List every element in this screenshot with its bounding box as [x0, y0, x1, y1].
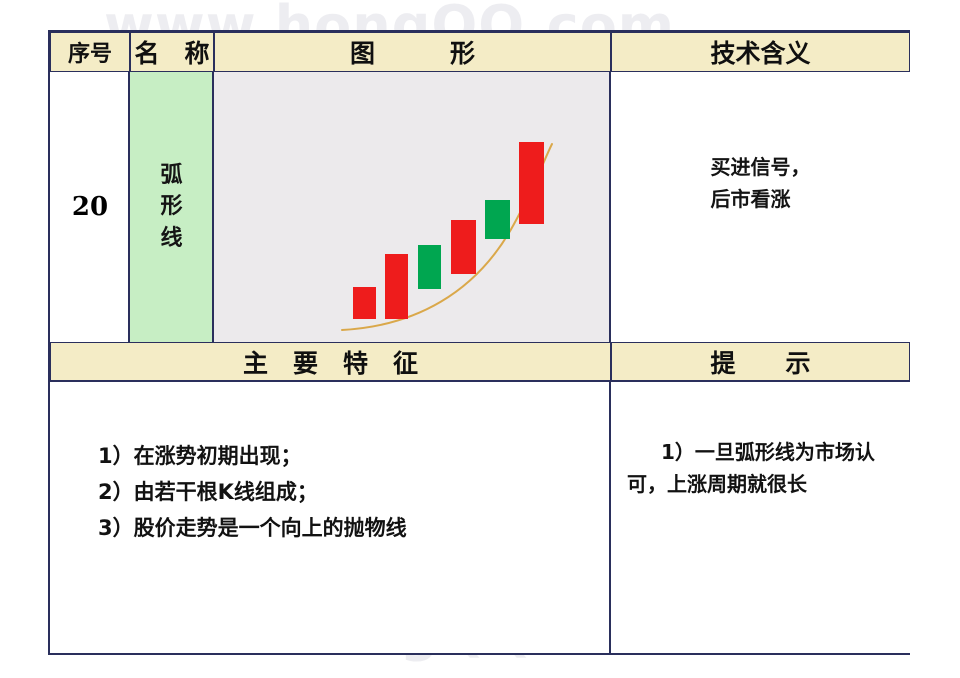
- technical-meaning-text: 买进信号， 后市看涨: [711, 151, 811, 216]
- candle-body-1: [353, 287, 376, 319]
- cell-tips: 1）一旦弧形线为市场认可，上涨周期就很长: [611, 382, 910, 653]
- cell-sequence-number: 20: [50, 72, 130, 342]
- main-features-text: 1）在涨势初期出现； 2）由若干根K线组成； 3）股价走势是一个向上的抛物线: [98, 438, 407, 546]
- candle-body-5: [485, 200, 510, 239]
- cell-pattern-name: 弧 形 线: [130, 72, 214, 342]
- candle-body-6: [519, 142, 544, 224]
- candle-body-4: [451, 220, 476, 274]
- header-name: 名 称: [130, 32, 214, 72]
- pattern-table: 序号 名 称 图 形 技术含义 20 弧 形 线 买进信号， 后市看涨 主 要 …: [48, 30, 910, 655]
- cell-technical-meaning: 买进信号， 后市看涨: [611, 72, 910, 342]
- grid-line-vertical-name: [212, 72, 214, 342]
- grid-line-vertical-sequence: [128, 72, 130, 342]
- candle-group: [353, 142, 544, 319]
- candle-body-2: [385, 254, 408, 319]
- pattern-name-char-2: 形: [160, 191, 183, 222]
- pattern-name-char-1: 弧: [160, 160, 183, 191]
- header-chart: 图 形: [214, 32, 611, 72]
- header-main-features: 主 要 特 征: [50, 342, 611, 382]
- candle-body-3: [418, 245, 441, 289]
- header-sequence: 序号: [50, 32, 130, 72]
- cell-candlestick-chart: [214, 72, 611, 342]
- tips-text: 1）一旦弧形线为市场认可，上涨周期就很长: [627, 436, 896, 501]
- grid-line-horizontal-middle: [50, 380, 910, 382]
- candlestick-chart-svg: [214, 72, 611, 342]
- header-meaning: 技术含义: [611, 32, 910, 72]
- grid-line-vertical-chart: [609, 72, 611, 342]
- header-tips: 提 示: [611, 342, 910, 382]
- cell-main-features: 1）在涨势初期出现； 2）由若干根K线组成； 3）股价走势是一个向上的抛物线: [50, 382, 611, 653]
- pattern-name-stack: 弧 形 线: [160, 160, 183, 254]
- pattern-name-char-3: 线: [160, 223, 183, 254]
- grid-line-vertical-lower: [609, 382, 611, 653]
